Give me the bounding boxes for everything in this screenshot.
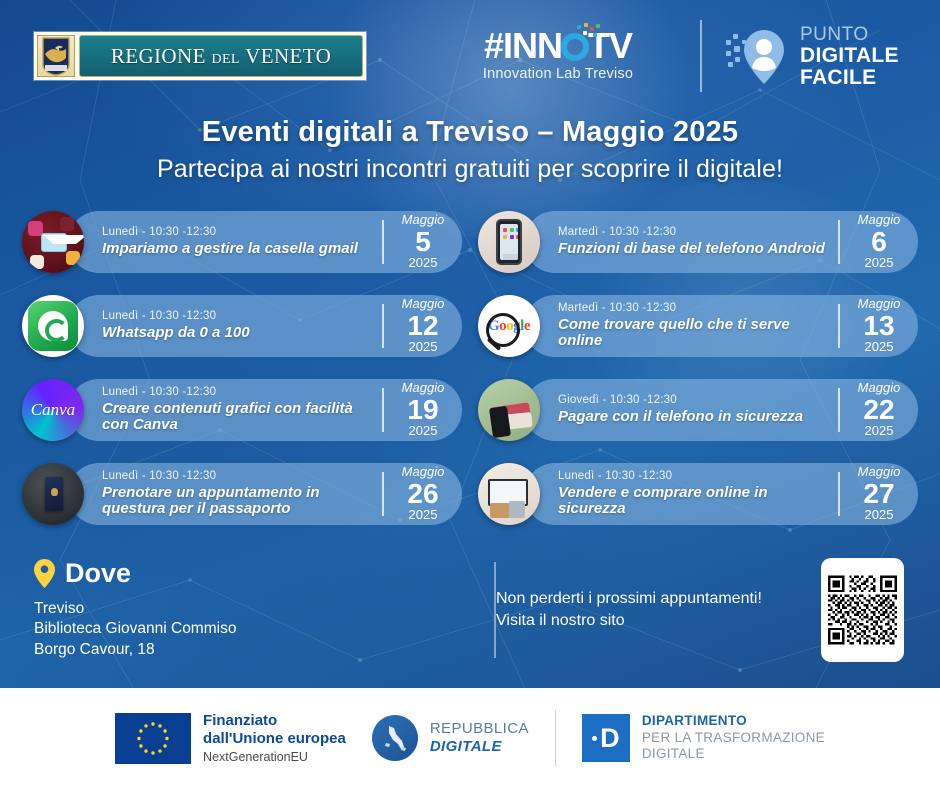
repubblica-digitale-logo: REPUBBLICA DIGITALE	[372, 715, 529, 761]
italy-svg	[380, 723, 410, 753]
event-day: 26	[392, 480, 454, 509]
event-card[interactable]: Google Martedì - 10:30 -12:30 Come trova…	[478, 288, 918, 364]
event-day: 27	[848, 480, 910, 509]
eu-line1: Finanziato	[203, 712, 346, 730]
event-year: 2025	[392, 508, 454, 522]
event-date: Maggio 5 2025	[392, 213, 454, 270]
event-card-body[interactable]: Lunedì - 10:30 -12:30 Whatsapp da 0 a 10…	[68, 295, 462, 357]
event-day: 13	[848, 312, 910, 341]
punto-digitale-facile-logo: PUNTO DIGITALE FACILE	[726, 24, 899, 90]
event-when: Lunedì - 10:30 -12:30	[102, 226, 374, 240]
winged-lion-crest-icon	[37, 35, 75, 77]
regione-veneto-text: REGIONE DEL VENETO	[111, 44, 331, 69]
eu-line2: dall'Unione europea	[203, 730, 346, 748]
phone-payment-photo	[478, 379, 540, 441]
event-divider	[838, 388, 840, 432]
map-pin-icon	[34, 559, 55, 588]
dipartimento-trasformazione-digitale-logo: D DIPARTIMENTO PER LA TRASFORMAZIONE DIG…	[582, 713, 825, 764]
map-pin-svg	[34, 559, 55, 588]
canva-logo: Canva	[22, 379, 84, 441]
event-divider	[838, 304, 840, 348]
event-when: Lunedì - 10:30 -12:30	[558, 470, 830, 484]
event-divider	[382, 388, 384, 432]
dtd-line2: PER LA TRASFORMAZIONE	[642, 730, 825, 747]
eu-funding-logo: Finanziato dall'Unione europea NextGener…	[115, 712, 346, 764]
event-year: 2025	[392, 424, 454, 438]
promo-block: Non perderti i prossimi appuntamenti! Vi…	[496, 558, 906, 662]
event-when: Martedì - 10:30 -12:30	[558, 302, 830, 316]
event-title: Whatsapp da 0 a 100	[102, 325, 374, 342]
event-title: Come trovare quello che ti serve online	[558, 317, 830, 351]
event-date: Maggio 22 2025	[848, 381, 910, 438]
event-divider	[838, 220, 840, 264]
pdf-line3: FACILE	[800, 67, 899, 89]
event-day: 6	[848, 228, 910, 257]
dtd-d-mark-icon: D	[582, 714, 630, 762]
innotv-subtitle: Innovation Lab Treviso	[452, 66, 664, 82]
where-venue: Biblioteca Giovanni Commiso	[34, 619, 464, 639]
where-block: Dove Treviso Biblioteca Giovanni Commiso…	[34, 558, 464, 662]
footer: Finanziato dall'Unione europea NextGener…	[0, 688, 940, 788]
event-when: Lunedì - 10:30 -12:30	[102, 470, 374, 484]
eu-funding-text: Finanziato dall'Unione europea NextGener…	[203, 712, 346, 764]
lion-shield-svg	[41, 36, 71, 76]
event-year: 2025	[848, 508, 910, 522]
event-day: 22	[848, 396, 910, 425]
laptop-parcel-photo	[478, 463, 540, 525]
events-grid: Lunedì - 10:30 -12:30 Impariamo a gestir…	[0, 204, 940, 532]
event-title: Vendere e comprare online in sicurezza	[558, 485, 830, 519]
dtd-letter: D	[600, 723, 620, 754]
event-title: Impariamo a gestire la casella gmail	[102, 241, 374, 258]
event-divider	[382, 220, 384, 264]
dtd-line1: DIPARTIMENTO	[642, 713, 825, 730]
punto-digitale-facile-text: PUNTO DIGITALE FACILE	[800, 25, 899, 88]
event-divider	[382, 472, 384, 516]
pdf-line1: PUNTO	[800, 25, 899, 45]
event-date: Maggio 19 2025	[392, 381, 454, 438]
header-divider	[700, 20, 702, 92]
event-when: Lunedì - 10:30 -12:30	[102, 310, 374, 324]
header: REGIONE DEL VENETO #INN TV Innovation La…	[0, 0, 940, 112]
event-title: Funzioni di base del telefono Android	[558, 241, 830, 258]
event-year: 2025	[848, 424, 910, 438]
event-divider	[382, 304, 384, 348]
event-day: 12	[392, 312, 454, 341]
event-day: 5	[392, 228, 454, 257]
qr-code[interactable]	[821, 558, 904, 662]
where-city: Treviso	[34, 599, 464, 619]
event-card-body[interactable]: Martedì - 10:30 -12:30 Funzioni di base …	[524, 211, 918, 273]
event-when: Martedì - 10:30 -12:30	[558, 226, 830, 240]
where-heading: Dove	[65, 558, 131, 589]
event-title: Creare contenuti grafici con facilità co…	[102, 401, 374, 435]
event-card[interactable]: Giovedì - 10:30 -12:30 Pagare con il tel…	[478, 372, 918, 448]
where-address: Treviso Biblioteca Giovanni Commiso Borg…	[34, 599, 464, 660]
event-date: Maggio 13 2025	[848, 297, 910, 354]
qr-code-svg	[828, 565, 897, 655]
innotv-logo: #INN TV Innovation Lab Treviso	[452, 28, 664, 82]
footer-divider	[555, 710, 556, 766]
event-card-body[interactable]: Lunedì - 10:30 -12:30 Prenotare un appun…	[68, 463, 462, 525]
page-title: Eventi digitali a Treviso – Maggio 2025	[0, 116, 940, 149]
event-title: Pagare con il telefono in sicurezza	[558, 409, 830, 426]
innotv-o-ring-icon	[561, 33, 589, 61]
page-subtitle: Partecipa ai nostri incontri gratuiti pe…	[0, 155, 940, 184]
canva-wordmark: Canva	[31, 400, 75, 420]
rd-line1: REPUBBLICA	[430, 721, 529, 738]
event-year: 2025	[392, 340, 454, 354]
event-card-body[interactable]: Lunedì - 10:30 -12:30 Vendere e comprare…	[524, 463, 918, 525]
eu-nextgen: NextGenerationEU	[203, 750, 346, 764]
dtd-text: DIPARTIMENTO PER LA TRASFORMAZIONE DIGIT…	[642, 713, 825, 764]
dtd-dot-icon	[592, 736, 597, 741]
event-card[interactable]: Lunedì - 10:30 -12:30 Vendere e comprare…	[478, 456, 918, 532]
event-year: 2025	[848, 256, 910, 270]
event-date: Maggio 26 2025	[392, 465, 454, 522]
innotv-part1: #INN	[484, 25, 562, 66]
dtd-line3: DIGITALE	[642, 746, 825, 763]
rd-line2: DIGITALE	[430, 738, 529, 755]
eu-flag-icon	[115, 713, 191, 764]
location-pin-person-icon	[726, 24, 788, 90]
promo-text: Non perderti i prossimi appuntamenti! Vi…	[496, 588, 801, 631]
whatsapp-app-icon	[22, 295, 84, 357]
event-year: 2025	[392, 256, 454, 270]
bottom-info: Dove Treviso Biblioteca Giovanni Commiso…	[0, 558, 940, 662]
event-card-body[interactable]: Giovedì - 10:30 -12:30 Pagare con il tel…	[524, 379, 918, 441]
event-card[interactable]: Martedì - 10:30 -12:30 Funzioni di base …	[478, 204, 918, 280]
repubblica-digitale-text: REPUBBLICA DIGITALE	[430, 721, 529, 755]
event-date: Maggio 12 2025	[392, 297, 454, 354]
pdf-line2: DIGITALE	[800, 45, 899, 67]
innotv-wordmark: #INN TV	[484, 28, 632, 64]
italy-map-icon	[372, 715, 418, 761]
event-when: Lunedì - 10:30 -12:30	[102, 386, 374, 400]
google-search-magnifier: Google	[478, 295, 540, 357]
event-card[interactable]: Lunedì - 10:30 -12:30 Whatsapp da 0 a 10…	[22, 288, 462, 364]
event-card-body[interactable]: Martedì - 10:30 -12:30 Come trovare quel…	[524, 295, 918, 357]
event-card[interactable]: Lunedì - 10:30 -12:30 Prenotare un appun…	[22, 456, 462, 532]
event-divider	[838, 472, 840, 516]
android-phone-photo	[478, 211, 540, 273]
event-title: Prenotare un appuntamento in questura pe…	[102, 485, 374, 519]
eu-flag-svg	[115, 713, 191, 764]
innotv-pixel-dots-icon	[575, 23, 605, 41]
event-day: 19	[392, 396, 454, 425]
gmail-app-icon	[22, 211, 84, 273]
event-card[interactable]: Lunedì - 10:30 -12:30 Impariamo a gestir…	[22, 204, 462, 280]
event-date: Maggio 6 2025	[848, 213, 910, 270]
passport-photo	[22, 463, 84, 525]
event-year: 2025	[848, 340, 910, 354]
event-card-body[interactable]: Lunedì - 10:30 -12:30 Impariamo a gestir…	[68, 211, 462, 273]
where-heading-row: Dove	[34, 558, 464, 589]
regione-veneto-wordmark: REGIONE DEL VENETO	[79, 35, 363, 77]
event-date: Maggio 27 2025	[848, 465, 910, 522]
poster-root: REGIONE DEL VENETO #INN TV Innovation La…	[0, 0, 940, 788]
pin-svg	[726, 24, 788, 90]
where-street: Borgo Cavour, 18	[34, 640, 464, 660]
event-card-body[interactable]: Lunedì - 10:30 -12:30 Creare contenuti g…	[68, 379, 462, 441]
event-when: Giovedì - 10:30 -12:30	[558, 394, 830, 408]
event-card[interactable]: Canva Lunedì - 10:30 -12:30 Creare conte…	[22, 372, 462, 448]
title-block: Eventi digitali a Treviso – Maggio 2025 …	[0, 116, 940, 184]
regione-veneto-logo: REGIONE DEL VENETO	[34, 32, 366, 80]
